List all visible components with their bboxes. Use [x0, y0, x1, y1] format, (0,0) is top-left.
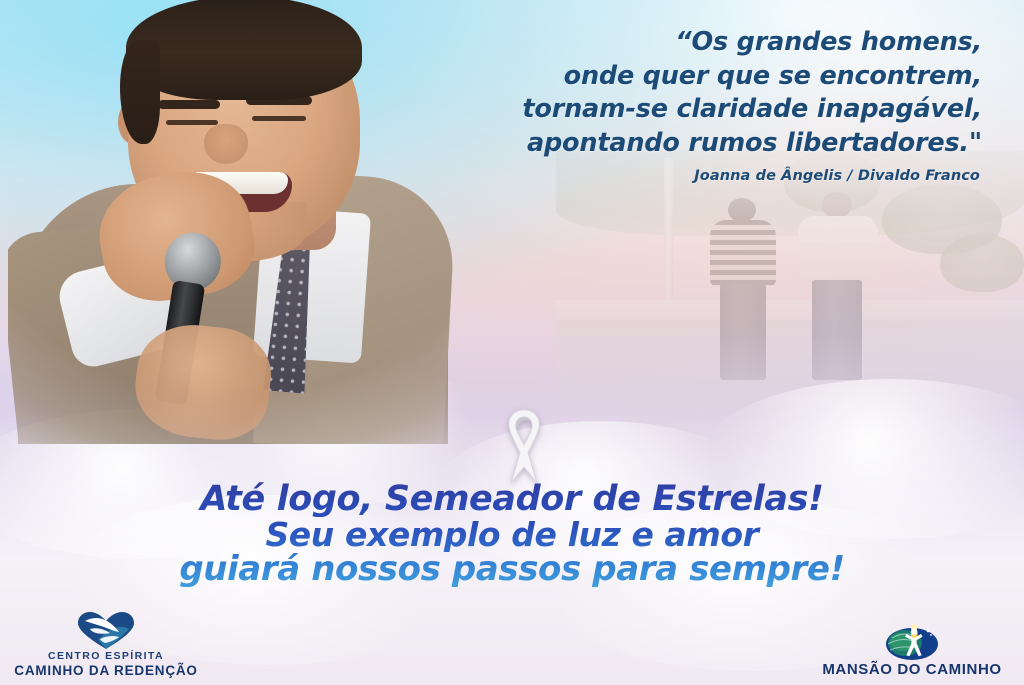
eyebrow-left: [158, 100, 220, 109]
quote-text: “Os grandes homens, onde quer que se enc…: [422, 26, 982, 160]
eye-right: [252, 116, 306, 121]
person-head: [822, 192, 852, 218]
mourning-ribbon-icon: [487, 405, 561, 489]
quote-line-4: apontando rumos libertadores.": [422, 127, 982, 161]
quote-attribution: Joanna de Ângelis / Divaldo Franco: [694, 168, 980, 184]
quote-line-3: tornam-se claridade inapagável,: [422, 93, 982, 127]
eye-left: [166, 120, 218, 125]
logo-left-line-1: CENTRO ESPÍRITA: [8, 650, 204, 663]
person-torso: [798, 216, 878, 282]
background-photo: [556, 150, 1024, 450]
quote-line-1: “Os grandes homens,: [422, 26, 982, 60]
light-pole: [664, 158, 673, 310]
headline: Até logo, Semeador de Estrelas! Seu exem…: [0, 482, 1024, 587]
headline-line-1: Até logo, Semeador de Estrelas!: [0, 482, 1024, 517]
person-legs: [720, 284, 766, 380]
headline-line-3: guiará nossos passos para sempre!: [0, 552, 1024, 587]
logo-left-line-2: CAMINHO DA REDENÇÃO: [8, 663, 204, 679]
nose: [204, 124, 248, 164]
portrait-photo: [8, 0, 460, 444]
logo-centro-espirita[interactable]: CENTRO ESPÍRITA CAMINHO DA REDENÇÃO: [8, 612, 204, 679]
hair: [126, 0, 362, 100]
person-head: [728, 198, 756, 222]
memorial-poster: “Os grandes homens, onde quer que se enc…: [0, 0, 1024, 685]
logo-mansao-do-caminho[interactable]: MANSÃO DO CAMINHO: [812, 623, 1012, 679]
quote-line-2: onde quer que se encontrem,: [422, 60, 982, 94]
hair-side: [120, 40, 160, 144]
headline-line-2: Seu exemplo de luz e amor: [0, 517, 1024, 552]
palm-crown: [940, 234, 1024, 292]
background-ground: [556, 320, 1024, 450]
logo-right-line-1: MANSÃO DO CAMINHO: [812, 661, 1012, 679]
person-torso: [710, 220, 776, 286]
globe-figure-icon: [812, 623, 1012, 661]
heart-hands-icon: [8, 612, 204, 650]
person-legs: [812, 280, 862, 380]
